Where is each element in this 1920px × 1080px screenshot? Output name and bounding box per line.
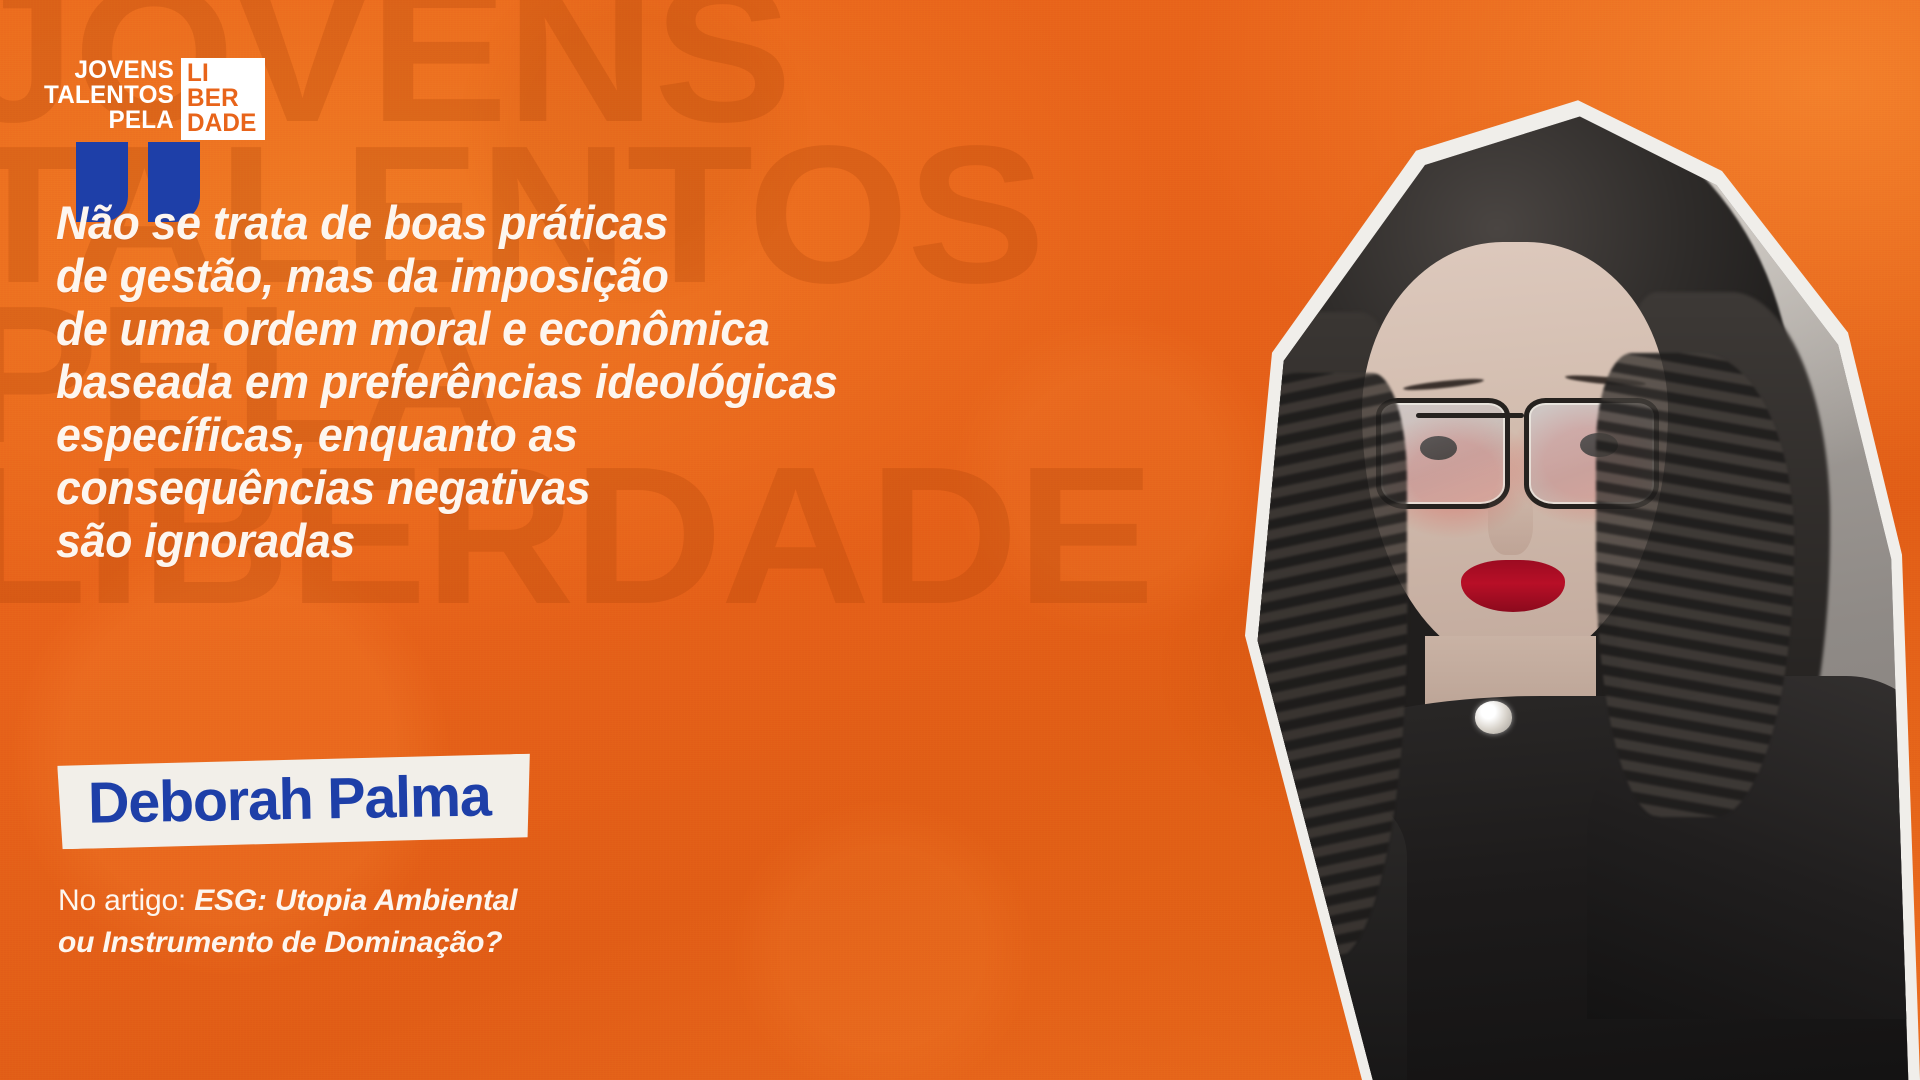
portrait-nose bbox=[1488, 484, 1533, 555]
portrait-hair-front-left bbox=[1191, 373, 1407, 959]
author-portrait bbox=[1020, 70, 1920, 1080]
quote-line-2: de gestão, mas da imposição bbox=[56, 249, 892, 302]
article-reference: No artigo: ESG: Utopia Ambiental ou Inst… bbox=[58, 880, 698, 964]
quote-line-7: são ignoradas bbox=[56, 514, 892, 567]
portrait-necklace bbox=[1475, 701, 1513, 733]
logo-wordmark: JOVENS TALENTOS PELA bbox=[44, 58, 174, 133]
portrait-hair-front-right bbox=[1596, 353, 1794, 818]
article-title-line-1: ESG: Utopia Ambiental bbox=[194, 884, 517, 917]
promo-card: JOVENS TALENTOS PELA LIBERDADE JOVENS TA… bbox=[0, 0, 1920, 1080]
portrait-photo bbox=[1020, 70, 1920, 1080]
logo-liberdade-box: LI BER DADE bbox=[181, 58, 265, 140]
logo-line-pela: PELA bbox=[44, 108, 174, 133]
article-lead-label: No artigo: bbox=[58, 884, 194, 917]
logo-line-jovens: JOVENS bbox=[44, 58, 174, 83]
article-title-line-2: ou Instrumento de Dominação? bbox=[58, 926, 502, 959]
author-name: Deborah Palma bbox=[87, 765, 491, 834]
portrait-glasses-bridge bbox=[1416, 413, 1524, 418]
quote-line-1: Não se trata de boas práticas bbox=[56, 196, 892, 249]
logo-line-ber: BER bbox=[187, 86, 256, 111]
quote-line-3: de uma ordem moral e econômica bbox=[56, 302, 892, 355]
quote-line-4: baseada em preferências ideológicas bbox=[56, 355, 892, 408]
logo-line-dade: DADE bbox=[187, 111, 256, 136]
quote-line-6: consequências negativas bbox=[56, 461, 892, 514]
logo-line-talentos: TALENTOS bbox=[44, 83, 174, 108]
quote-text: Não se trata de boas práticas de gestão,… bbox=[56, 196, 892, 567]
logo-line-li: LI bbox=[187, 61, 256, 86]
author-name-badge: Deborah Palma bbox=[57, 754, 531, 850]
brand-logo: JOVENS TALENTOS PELA LI BER DADE bbox=[40, 58, 265, 140]
quote-line-5: específicas, enquanto as bbox=[56, 408, 892, 461]
